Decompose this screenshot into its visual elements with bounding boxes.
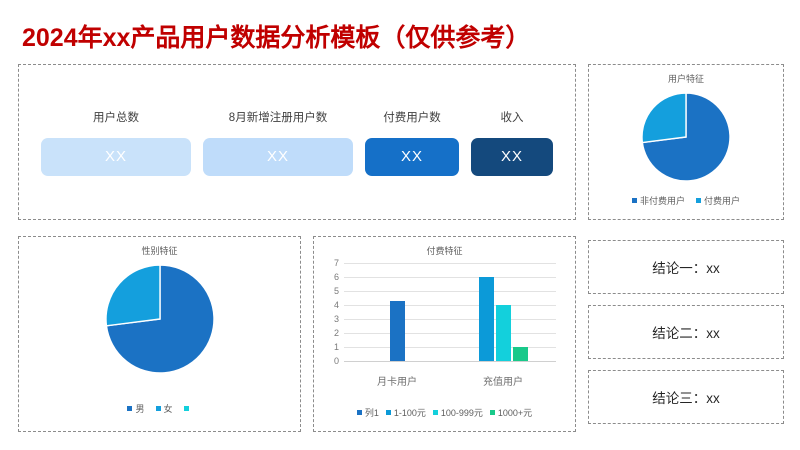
gender-characteristics-chart: 性别特征 男女 [19,237,300,431]
y-axis-tick-label: 4 [325,300,339,310]
gridline [344,319,556,320]
pie-slice[interactable] [642,93,686,143]
legend-label: 付费用户 [704,194,740,207]
legend-item[interactable]: 男 [127,402,144,415]
gridline [344,263,556,264]
legend-swatch-icon [696,198,701,203]
kpi-card-new-users[interactable]: 8月新增注册用户数 XX [203,109,353,176]
legend-item[interactable]: 女 [156,402,173,415]
chart-title: 性别特征 [19,244,300,257]
legend-swatch-icon [357,410,362,415]
legend-item[interactable]: 非付费用户 [632,194,685,207]
kpi-row: 用户总数 XX 8月新增注册用户数 XX 付费用户数 XX 收入 XX [19,65,575,219]
legend-item[interactable]: 付费用户 [696,194,740,207]
x-axis-tick-label: 充值用户 [483,373,523,388]
x-axis-tick-label: 月卡用户 [377,373,417,388]
legend-swatch-icon [433,410,438,415]
y-axis-tick-label: 7 [325,258,339,268]
conclusion-box-1[interactable]: 结论一：xx [588,240,784,294]
bar-plot-area: 01234567 [344,263,556,361]
kpi-card-total-users[interactable]: 用户总数 XX [41,109,191,176]
kpi-label: 付费用户数 [383,109,441,125]
legend-label: 1-100元 [394,406,426,419]
legend-label: 1000+元 [498,406,532,419]
legend-swatch-icon [386,410,391,415]
kpi-value-box[interactable]: XX [41,138,191,176]
chart-legend: 列11-100元100-999元1000+元 [314,406,575,419]
legend-swatch-icon [156,406,161,411]
chart-title: 付费特征 [314,244,575,257]
legend-item[interactable]: 100-999元 [433,406,483,419]
legend-item[interactable]: 1000+元 [490,406,532,419]
legend-swatch-icon [127,406,132,411]
kpi-value-box[interactable]: XX [365,138,459,176]
gridline [344,333,556,334]
conclusion-text: 结论二：xx [589,306,783,358]
bar[interactable] [390,301,405,361]
conclusion-box-2[interactable]: 结论二：xx [588,305,784,359]
legend-label: 非付费用户 [640,194,685,207]
legend-item[interactable] [184,406,192,411]
bar[interactable] [513,347,528,361]
kpi-panel: 用户总数 XX 8月新增注册用户数 XX 付费用户数 XX 收入 XX [18,64,576,220]
user-characteristics-chart-panel: 用户特征 非付费用户付费用户 [588,64,784,220]
chart-legend: 非付费用户付费用户 [589,194,783,207]
gridline [344,305,556,306]
legend-item[interactable]: 列1 [357,406,379,419]
bar[interactable] [479,277,494,361]
conclusion-text: 结论三：xx [589,371,783,423]
legend-swatch-icon [184,406,189,411]
page-title: 2024年xx产品用户数据分析模板（仅供参考） [22,18,530,54]
legend-item[interactable]: 1-100元 [386,406,426,419]
conclusion-text: 结论一：xx [589,241,783,293]
legend-label: 女 [164,402,173,415]
kpi-label: 8月新增注册用户数 [229,109,327,125]
kpi-card-paying-users[interactable]: 付费用户数 XX [365,109,459,176]
kpi-label: 收入 [501,109,524,125]
y-axis-tick-label: 2 [325,328,339,338]
payment-characteristics-chart-panel: 付费特征 01234567 月卡用户充值用户 列11-100元100-999元1… [313,236,576,432]
pie-slice[interactable] [106,265,160,326]
conclusion-box-3[interactable]: 结论三：xx [588,370,784,424]
kpi-label: 用户总数 [93,109,139,125]
gridline [344,277,556,278]
gridline [344,291,556,292]
chart-title: 用户特征 [589,72,783,85]
pie-svg [642,93,730,181]
kpi-value-box[interactable]: XX [203,138,353,176]
pie-graphic [589,93,783,181]
y-axis-tick-label: 3 [325,314,339,324]
y-axis-tick-label: 6 [325,272,339,282]
pie-graphic [19,265,300,373]
user-characteristics-chart: 用户特征 非付费用户付费用户 [589,65,783,219]
legend-swatch-icon [632,198,637,203]
gender-characteristics-chart-panel: 性别特征 男女 [18,236,301,432]
y-axis-tick-label: 5 [325,286,339,296]
bar[interactable] [496,305,511,361]
kpi-card-revenue[interactable]: 收入 XX [471,109,553,176]
y-axis-tick-label: 1 [325,342,339,352]
legend-swatch-icon [490,410,495,415]
pie-svg [106,265,214,373]
chart-legend: 男女 [19,402,300,415]
x-axis-line [344,361,556,362]
payment-characteristics-chart: 付费特征 01234567 月卡用户充值用户 列11-100元100-999元1… [314,237,575,431]
legend-label: 列1 [365,406,379,419]
kpi-value-box[interactable]: XX [471,138,553,176]
legend-label: 男 [135,402,144,415]
y-axis-tick-label: 0 [325,356,339,366]
legend-label: 100-999元 [441,406,483,419]
